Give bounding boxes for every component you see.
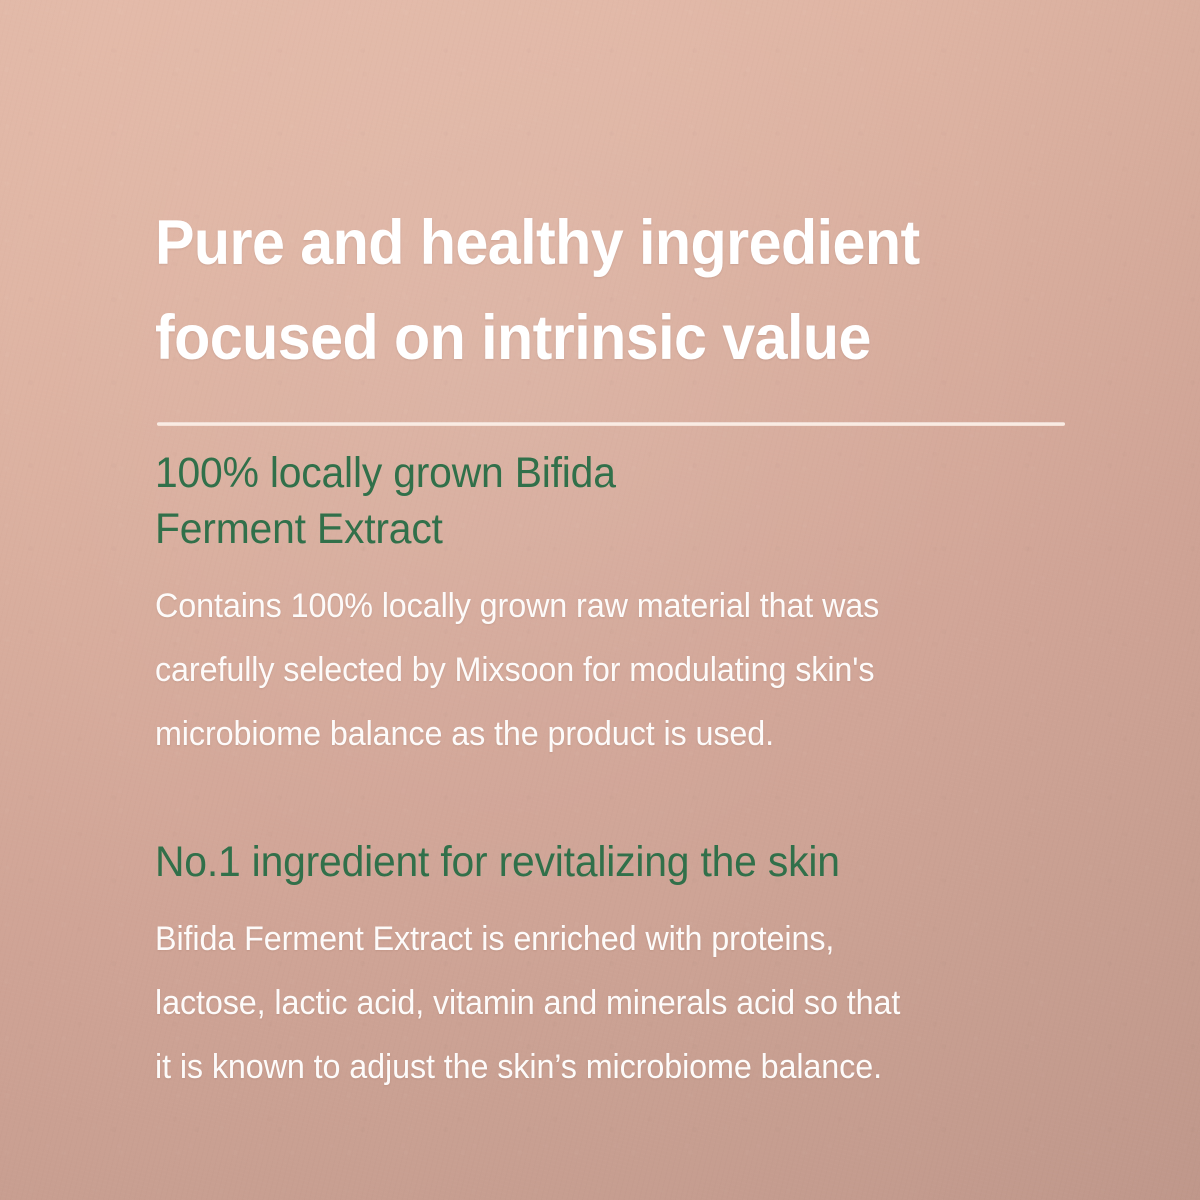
ingredient-info-panel: Pure and healthy ingredient focused on i…	[0, 0, 1200, 1200]
section-heading-bifida-ferment-extract: 100% locally grown Bifida Ferment Extrac…	[155, 445, 1039, 557]
section-heading-no1-ingredient: No.1 ingredient for revitalizing the ski…	[155, 834, 1039, 890]
section-bifida-ferment-extract: 100% locally grown Bifida Ferment Extrac…	[155, 386, 1085, 766]
section-divider	[157, 422, 1065, 426]
panel-content: Pure and healthy ingredient focused on i…	[155, 0, 1085, 1099]
section-body-bifida-ferment-extract: Contains 100% locally grown raw material…	[155, 557, 1039, 766]
section-no1-ingredient: No.1 ingredient for revitalizing the ski…	[155, 766, 1085, 1099]
section-body-no1-ingredient: Bifida Ferment Extract is enriched with …	[155, 890, 1039, 1099]
panel-headline: Pure and healthy ingredient focused on i…	[155, 0, 1029, 386]
